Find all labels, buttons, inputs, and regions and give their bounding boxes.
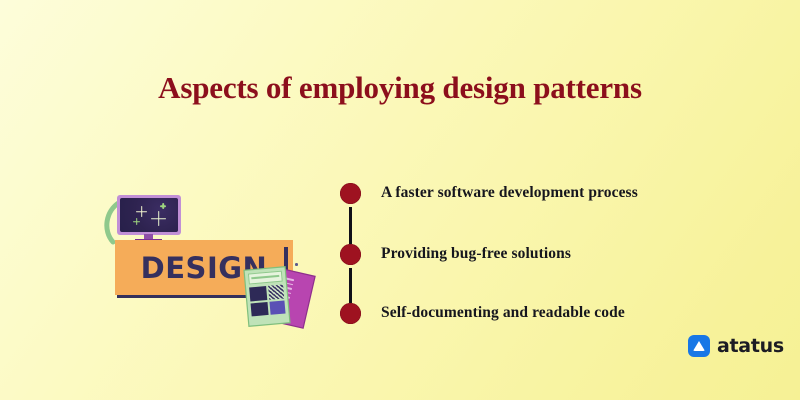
list-item: Providing bug-free solutions [340,242,571,266]
list-item: Self-documenting and readable code [340,301,625,325]
document-cell [249,286,267,301]
sparkle-icon [151,211,166,226]
triangle-icon [693,341,705,351]
monitor-icon [117,195,181,245]
bullet-dot-icon [340,244,361,265]
list-item: A faster software development process [340,181,638,205]
slide-canvas: Aspects of employing design patterns DES… [0,0,800,400]
page-title: Aspects of employing design patterns [0,70,800,106]
document-cell [269,300,285,314]
atatus-mark-icon [688,335,710,357]
bullet-label: A faster software development process [381,184,638,202]
bullet-label: Self-documenting and readable code [381,304,625,322]
monitor-frame [117,195,181,235]
document-layout-grid [249,285,286,321]
atatus-wordmark: atatus [717,337,784,356]
bullet-dot-icon [340,303,361,324]
design-illustration: DESIGN [95,185,320,335]
bullet-connector [349,207,352,244]
sparkle-icon [133,218,140,225]
bullet-label: Providing bug-free solutions [381,245,571,263]
sparkle-icon [136,206,147,217]
bullet-list: A faster software development process Pr… [340,175,730,330]
document-cell [268,285,284,300]
document-cell [251,302,269,316]
document-header-bar [248,271,283,285]
atatus-logo: atatus [688,335,784,357]
bullet-connector [349,268,352,303]
monitor-screen [120,198,178,232]
document-front [245,267,290,325]
sparkle-icon [160,203,166,209]
banner-dot [295,263,298,266]
bullet-dot-icon [340,183,361,204]
document-stack-icon [245,269,323,331]
